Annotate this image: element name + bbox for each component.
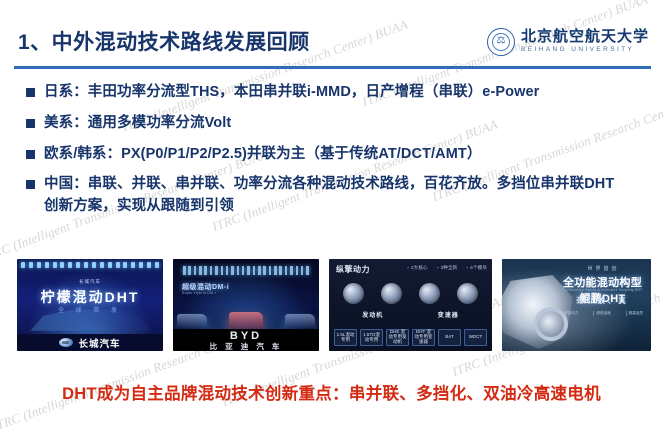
panel3-chip: 1.5L混动专用 <box>334 329 357 346</box>
panel1-brand-bar: 长城汽车 <box>17 334 163 351</box>
panel3-chip-list: 1.5L混动专用 1.5TD混动专用 DHE 混动专用发动机 DHT 混动专用变… <box>334 329 487 346</box>
bullet-text: 日系：丰田功率分流型THS，本田串并联i-MMD，日产增程（串联）e-Power <box>44 82 539 104</box>
conclusion-text: DHT成为自主品牌混动技术创新重点：串并联、多挡化、双油冷高速电机 <box>0 380 663 404</box>
panel4-feature-list: 超强动力 超低油耗 超高品质 <box>562 311 645 316</box>
bullet-square-icon <box>26 180 35 189</box>
panel2-brand: 比 亚 迪 汽 车 <box>173 341 319 351</box>
panel3-chip: DHE 混动专用发动机 <box>386 329 409 346</box>
image-panel-byd: 超级混动DM-i Super Hybrid DM-i BYD 比 亚 迪 汽 车 <box>173 259 319 351</box>
panel4-tagline: 劲、效、真 <box>558 295 647 306</box>
powertrain-parts-icon <box>335 278 486 308</box>
bullet-square-icon <box>26 88 35 97</box>
car-lineup-icon <box>177 305 315 329</box>
image-panel-powertrain: 纵擎动力 2大核心 3种全新 6个模块 发动机 变速器 1.5L混动专用 1.5… <box>329 259 492 351</box>
panel3-title: 纵擎动力 <box>336 264 370 275</box>
panel3-tag-list: 2大核心 3种全新 6个模块 <box>407 265 487 271</box>
image-strip: 长城汽车 柠檬混动DHT 全 球 首 发 长城汽车 超级混动DM-i Super… <box>17 259 651 351</box>
bullet-square-icon <box>26 119 35 128</box>
bullet-text: 美系：通用多模功率分流Volt <box>44 113 231 135</box>
panel3-group-label: 变速器 <box>438 310 459 319</box>
panel2-brand-bar: BYD 比 亚 迪 汽 车 <box>173 329 319 351</box>
page-title: 1、中外混动技术路线发展回顾 <box>18 26 310 56</box>
bullet-item-china: 中国：串联、并联、串并联、功率分流各种混动技术路线，百花齐放。多挡位串并联DHT… <box>26 174 646 218</box>
bullet-square-icon <box>26 150 35 159</box>
panel3-chip: BAT <box>438 329 461 346</box>
panel3-tag: 3种全新 <box>437 265 458 271</box>
logo-name-en: BEIHANG UNIVERSITY <box>521 47 649 54</box>
bullet-item-usa: 美系：通用多模功率分流Volt <box>26 113 646 135</box>
panel3-tag: 6个模块 <box>466 265 487 271</box>
bullet-list: 日系：丰田功率分流型THS，本田串并联i-MMD，日产增程（串联）e-Power… <box>26 82 646 227</box>
panel1-brand: 长城汽车 <box>78 336 120 350</box>
title-divider <box>14 66 651 69</box>
image-panel-great-wall: 长城汽车 柠檬混动DHT 全 球 首 发 长城汽车 <box>17 259 163 351</box>
image-panel-kunpeng: 世界首创 全功能混动构型鲲鹏DHT Full-function Hybrid A… <box>502 259 651 351</box>
panel3-tag: 2大核心 <box>407 265 428 271</box>
logo-name-cn: 北京航空航天大学 <box>521 30 649 46</box>
panel3-chip: 1.5TD混动专用 <box>360 329 383 346</box>
panel3-chip: DHT 混动专用变速器 <box>412 329 435 346</box>
bullet-text: 欧系/韩系：PX(P0/P1/P2/P2.5)并联为主（基于传统AT/DCT/A… <box>44 144 481 166</box>
panel3-group-labels: 发动机 变速器 <box>335 309 486 320</box>
slide-canvas: ITRC (Intelligent Transmission Research … <box>0 0 663 438</box>
panel2-subtitle: Super Hybrid DM-i <box>182 291 216 295</box>
panel3-group-label: 发动机 <box>362 310 383 319</box>
great-wall-emblem-icon <box>59 338 73 347</box>
panel1-subtitle: 长城汽车 <box>17 279 163 285</box>
panel4-feature: 超高品质 <box>626 311 645 316</box>
stage-lights-icon <box>21 262 159 269</box>
seal-icon: ⚖ <box>487 28 515 56</box>
panel3-chip: WDCT <box>464 329 487 346</box>
university-logo: ⚖ 北京航空航天大学 BEIHANG UNIVERSITY <box>487 28 649 56</box>
seal-glyph: ⚖ <box>488 35 514 46</box>
bullet-text: 中国：串联、并联、串并联、功率分流各种混动技术路线，百花齐放。多挡位串并联DHT… <box>44 174 624 218</box>
panel4-feature: 超强动力 <box>562 311 580 316</box>
panel1-title: 柠檬混动DHT <box>17 287 163 307</box>
bullet-item-japan: 日系：丰田功率分流型THS，本田串并联i-MMD，日产增程（串联）e-Power <box>26 82 646 104</box>
stage-lights-icon <box>183 266 309 276</box>
panel4-subtitle: 世界首创 <box>562 265 645 272</box>
panel4-title-en: Full-function Hybrid Architecture Kunpen… <box>558 288 647 292</box>
bullet-item-europe-korea: 欧系/韩系：PX(P0/P1/P2/P2.5)并联为主（基于传统AT/DCT/A… <box>26 144 646 166</box>
panel4-feature: 超低油耗 <box>593 311 612 316</box>
slide-header: 1、中外混动技术路线发展回顾 ⚖ 北京航空航天大学 BEIHANG UNIVER… <box>0 0 663 72</box>
